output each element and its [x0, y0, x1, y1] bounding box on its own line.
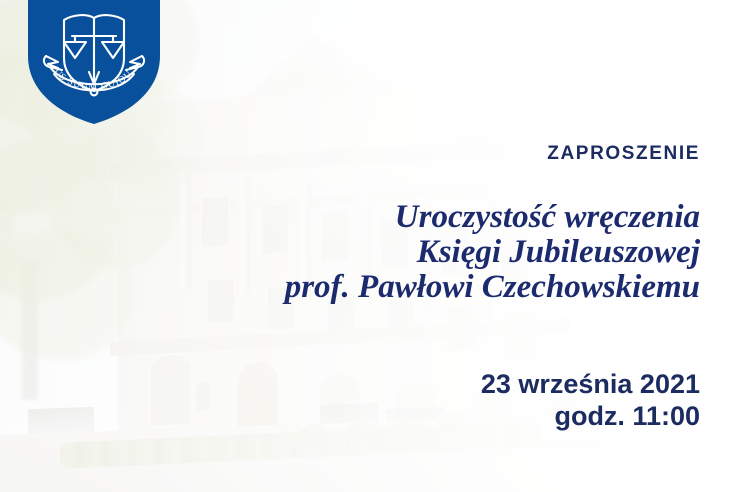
invitation-text-block: ZAPROSZENIE Uroczystość wręczenia Księgi… — [140, 0, 700, 492]
invitation-kicker: ZAPROSZENIE — [547, 143, 700, 165]
invitation-title: Uroczystość wręczenia Księgi Jubileuszow… — [140, 200, 700, 305]
event-time: godz. 11:00 — [140, 400, 700, 432]
invitation-datetime: 23 września 2021 godz. 11:00 — [140, 368, 700, 432]
title-line-3: prof. Pawłowi Czechowskiemu — [140, 270, 700, 305]
event-date: 23 września 2021 — [140, 368, 700, 400]
invitation-card: IUS SUUM CUIQUE ZAPROSZENIE Uroczystość … — [0, 0, 736, 492]
title-line-1: Uroczystość wręczenia — [140, 200, 700, 235]
title-line-2: Księgi Jubileuszowej — [140, 235, 700, 270]
